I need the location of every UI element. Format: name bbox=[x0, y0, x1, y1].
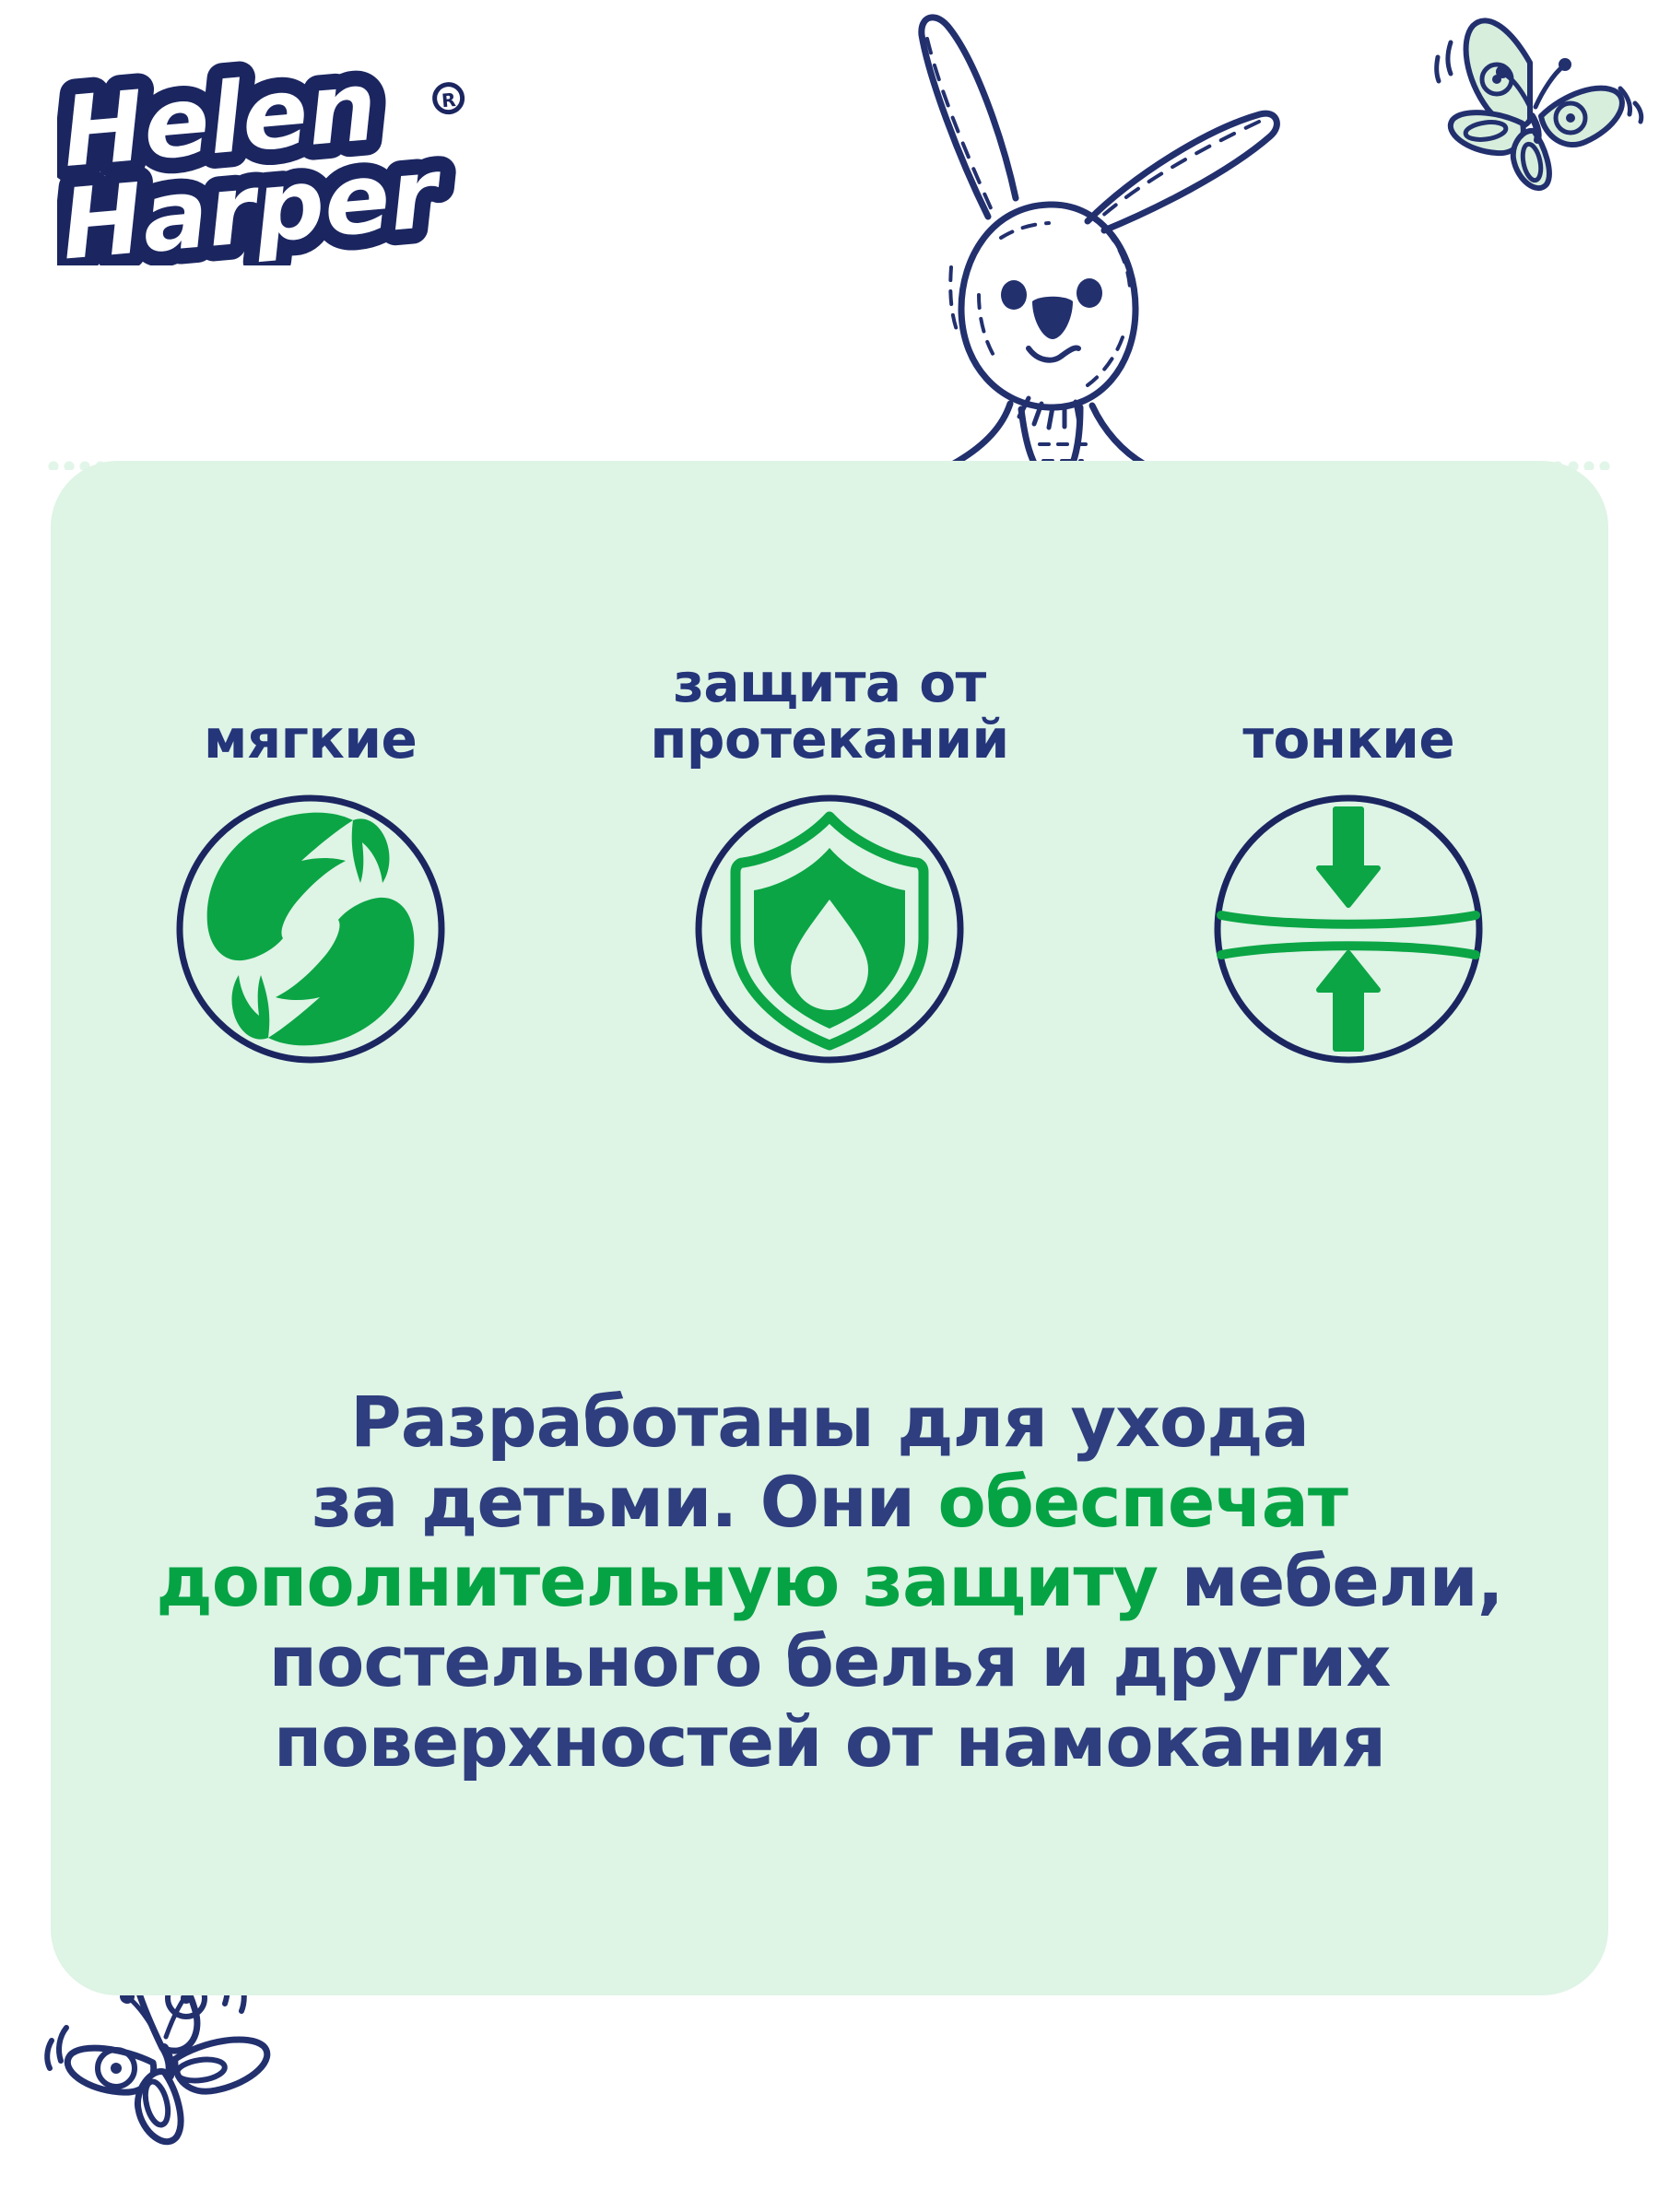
feature-label-soft: мягкие bbox=[204, 645, 417, 767]
body-copy-line-4: постельного белья и других bbox=[51, 1622, 1608, 1702]
thin-arrows-icon-svg bbox=[1210, 791, 1487, 1067]
body-copy-seg-accent: дополнительную защиту bbox=[156, 1540, 1158, 1622]
body-copy-seg: мебели, bbox=[1158, 1540, 1503, 1622]
feature-leak-protection: защита от протеканий bbox=[570, 645, 1088, 1309]
feathers-icon bbox=[172, 791, 449, 1067]
body-copy-seg: за детьми. Они bbox=[312, 1461, 937, 1543]
brand-logo-svg: Helen Helen Harper Harper R bbox=[57, 53, 647, 265]
body-copy-seg: постельного белья и других bbox=[269, 1620, 1391, 1702]
bunny-face bbox=[1001, 278, 1102, 339]
butterfly-top-svg bbox=[1419, 17, 1659, 210]
body-copy-seg: Разработаны для ухода bbox=[350, 1381, 1309, 1463]
shield-droplet-icon-svg bbox=[691, 791, 968, 1067]
feathers-icon-svg bbox=[172, 791, 449, 1067]
body-copy-line-5: поверхностей от намокания bbox=[51, 1702, 1608, 1783]
butterfly-top bbox=[1419, 17, 1659, 210]
feature-label-leak-protection: защита от протеканий bbox=[650, 645, 1008, 767]
body-copy-seg: поверхностей от намокания bbox=[274, 1700, 1385, 1783]
feature-label-thin: тонкие bbox=[1242, 645, 1454, 767]
registered-mark-icon: R bbox=[433, 83, 464, 113]
svg-text:R: R bbox=[441, 88, 456, 112]
body-copy: Разработаны для ухода за детьми. Они обе… bbox=[51, 1382, 1608, 1782]
body-copy-seg-accent: обеспечат bbox=[938, 1461, 1347, 1543]
feature-thin: тонкие bbox=[1089, 645, 1608, 1309]
brand-logo: Helen Helen Harper Harper R bbox=[57, 53, 647, 265]
body-copy-line-2: за детьми. Они обеспечат bbox=[51, 1463, 1608, 1543]
body-copy-line-1: Разработаны для ухода bbox=[51, 1382, 1608, 1463]
shield-droplet-icon bbox=[691, 791, 968, 1067]
feature-row: мягкие защита от протеканий тонк bbox=[51, 645, 1608, 1309]
feature-soft: мягкие bbox=[51, 645, 570, 1309]
thin-arrows-icon bbox=[1210, 791, 1487, 1067]
body-copy-line-3: дополнительную защиту мебели, bbox=[51, 1542, 1608, 1622]
